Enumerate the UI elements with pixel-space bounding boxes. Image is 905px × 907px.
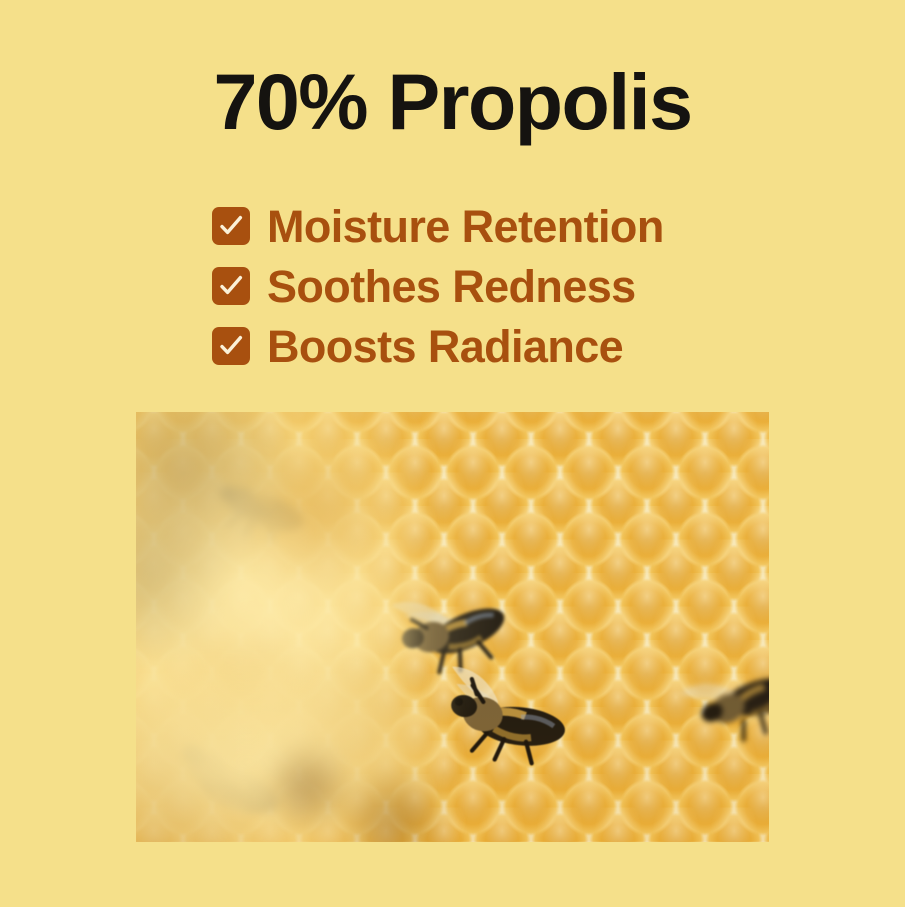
page-title: 70% Propolis <box>0 62 905 141</box>
propolis-infographic: 70% Propolis Moisture Retention Soothes … <box>0 0 905 907</box>
benefit-item-moisture-retention: Moisture Retention <box>212 196 832 256</box>
honeycomb-bees-photo <box>136 412 769 842</box>
benefit-label: Moisture Retention <box>267 204 664 249</box>
benefit-label: Boosts Radiance <box>267 324 623 369</box>
photo-stage <box>136 412 769 842</box>
benefit-item-soothes-redness: Soothes Redness <box>212 256 832 316</box>
checkbox-checked-icon <box>212 327 250 365</box>
photo-color-grade <box>136 412 769 842</box>
checkbox-checked-icon <box>212 207 250 245</box>
benefit-item-boosts-radiance: Boosts Radiance <box>212 316 832 376</box>
benefit-label: Soothes Redness <box>267 264 636 309</box>
checkbox-checked-icon <box>212 267 250 305</box>
benefits-list: Moisture Retention Soothes Redness Boost… <box>212 196 832 376</box>
